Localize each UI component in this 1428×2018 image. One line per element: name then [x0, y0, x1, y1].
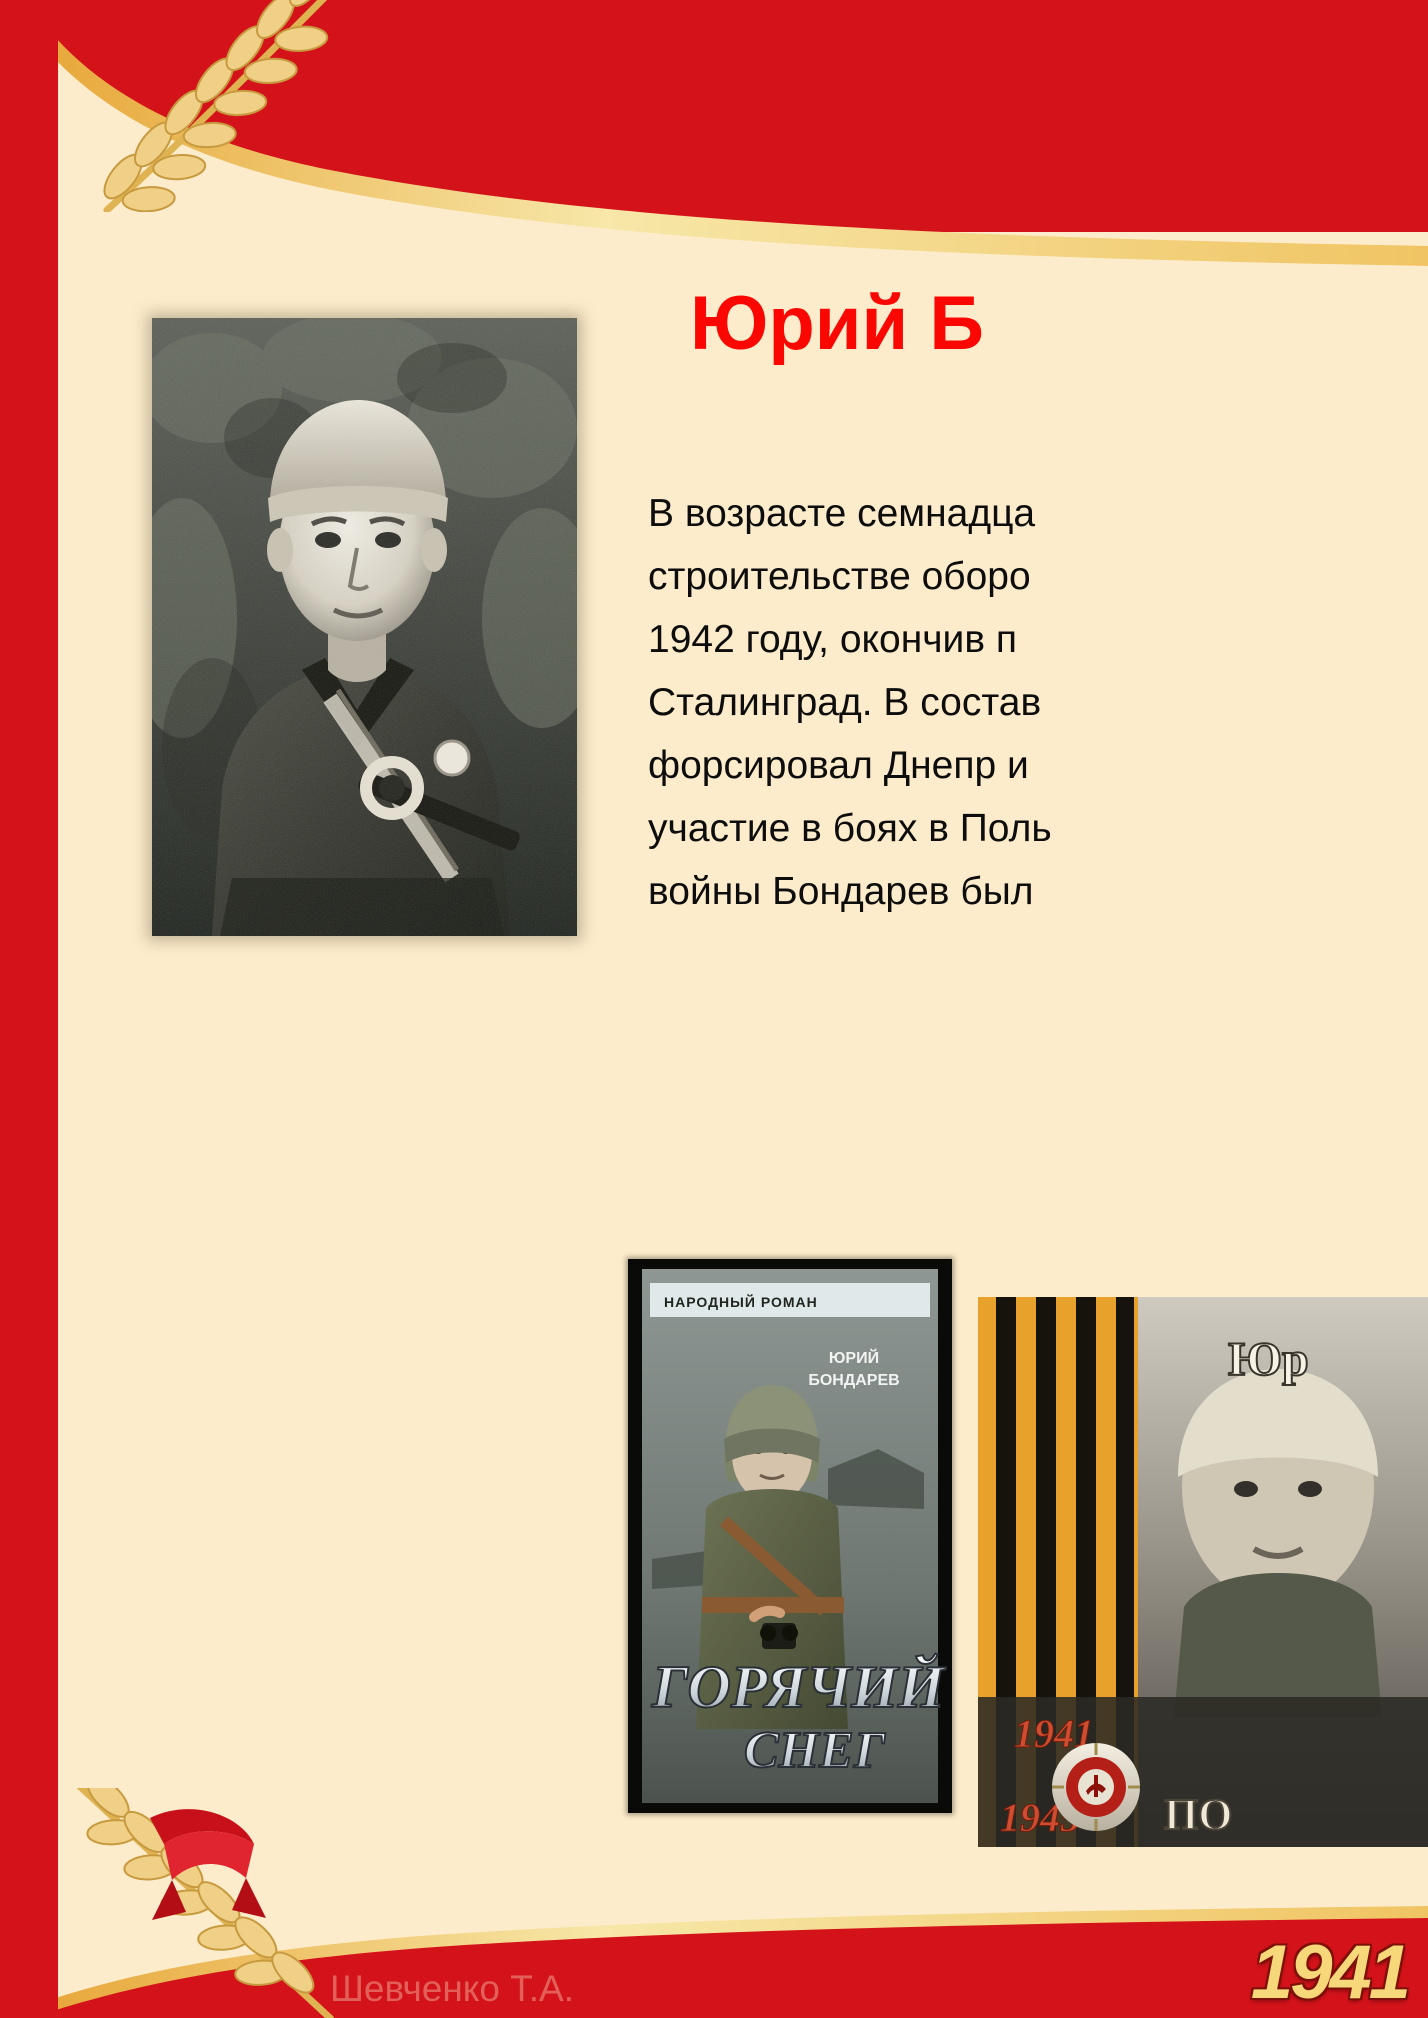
book-title-line1: ГОРЯЧИЙ	[651, 1654, 947, 1720]
year-badge: 1941	[1251, 1929, 1408, 2016]
body-paragraph: В возрасте семнадца строительстве оборо …	[648, 482, 1428, 923]
book-author-line1: ЮРИЙ	[829, 1348, 879, 1367]
page-title: Юрий Б	[690, 282, 1428, 366]
book-series-label: НАРОДНЫЙ РОМАН	[664, 1293, 818, 1310]
book-author-line2: БОНДАРЕВ	[808, 1372, 899, 1389]
ribbon-poster-graphic: Юр 1941 1945 ПО	[978, 1297, 1428, 1847]
ribbon-poster: Юр 1941 1945 ПО	[978, 1297, 1428, 1847]
book-cover-graphic: НАРОДНЫЙ РОМАН ЮРИЙ БОНДАРЕВ	[628, 1259, 952, 1813]
presentation-slide: Юрий Б	[0, 0, 1428, 2018]
author-watermark: Шевченко Т.А.	[330, 1968, 574, 2010]
book-title-line2: СНЕГ	[744, 1722, 886, 1779]
portrait-photo-graphic	[152, 318, 577, 936]
book-cover-goryachiy-sneg: НАРОДНЫЙ РОМАН ЮРИЙ БОНДАРЕВ	[628, 1259, 952, 1813]
poster-heading: Юр	[1228, 1333, 1309, 1386]
poster-footer-text: ПО	[1164, 1790, 1232, 1839]
portrait-photo	[152, 318, 577, 936]
left-red-bar	[0, 0, 58, 2018]
order-medal-icon	[1052, 1743, 1140, 1831]
